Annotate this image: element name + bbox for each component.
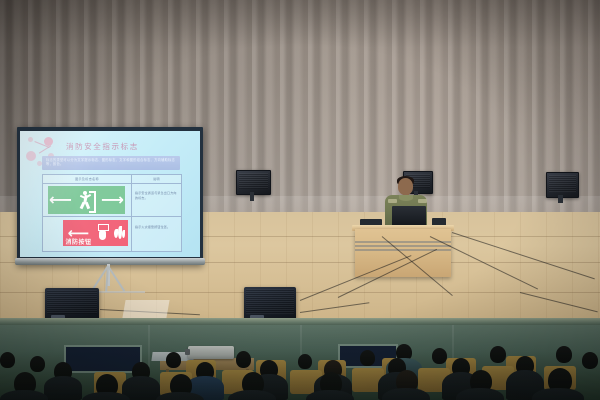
alarm-sign-label: 消防按钮 bbox=[63, 237, 94, 246]
presenter-shoulder-insignia bbox=[418, 199, 427, 203]
table-header-cell: 说明 bbox=[132, 177, 181, 181]
table-description-cell: 指示火灾报警按钮位置。 bbox=[135, 225, 179, 230]
alarm-left-arrow-cell: ⟵ 消防按钮 bbox=[63, 220, 94, 246]
fire-alarm-button-sign: ⟵ 消防按钮 bbox=[63, 220, 128, 246]
exit-left-arrow-cell: ⟵ bbox=[48, 186, 73, 214]
speaker-grille bbox=[47, 290, 97, 314]
slide-banner-text: 标志的类型可以分为文字提示标志、图形标志、文字和图形组合标志、方向辅助标志等，颜… bbox=[46, 158, 176, 167]
wall-joint bbox=[148, 325, 150, 367]
auditorium-photo: 消防安全指示标志 标志的类型可以分为文字提示标志、图形标志、文字和图形组合标志、… bbox=[0, 0, 600, 400]
speaker-stand bbox=[558, 195, 563, 203]
flame-icon bbox=[114, 225, 125, 241]
audience-shoulders bbox=[228, 390, 276, 400]
table-description-cell: 指示安全通道与紧急出口方向的标志。 bbox=[135, 191, 179, 200]
table-row-divider bbox=[43, 183, 181, 184]
speaker-grille bbox=[549, 175, 576, 192]
audience-shoulders bbox=[382, 388, 430, 400]
slide-banner: 标志的类型可以分为文字提示标志、图形标志、文字和图形组合标志、方向辅助标志等，颜… bbox=[42, 156, 180, 170]
audience-head bbox=[556, 346, 572, 363]
audience-head bbox=[432, 348, 447, 364]
projection-screen-surface: 消防安全指示标志 标志的类型可以分为文字提示标志、图形标志、文字和图形组合标志、… bbox=[20, 131, 200, 257]
wall-joint bbox=[452, 325, 454, 359]
running-man-exit-cell bbox=[73, 186, 100, 214]
slide-table: 图示及标志名称 说明 ⟵ bbox=[42, 174, 182, 252]
audience-head bbox=[360, 350, 375, 366]
pressing-hand-icon bbox=[96, 224, 109, 242]
audience-head bbox=[0, 352, 15, 368]
exit-right-arrow-cell: ⟶ bbox=[100, 186, 125, 214]
audience-head bbox=[236, 351, 251, 368]
table-header-cell: 图示及标志名称 bbox=[43, 177, 131, 181]
slide-title: 消防安全指示标志 bbox=[66, 141, 139, 152]
floor-monitor-left bbox=[45, 288, 99, 321]
dark-wall-panel bbox=[64, 345, 142, 373]
presenter-shoulder-insignia bbox=[388, 199, 397, 203]
audience-head bbox=[490, 346, 506, 363]
stage-paper bbox=[122, 300, 169, 318]
audience-head bbox=[298, 354, 312, 369]
audience-head bbox=[30, 356, 45, 372]
presenter-laptop bbox=[392, 206, 426, 226]
table-column-divider bbox=[131, 175, 132, 251]
speaker-grille bbox=[246, 289, 294, 314]
presenter-collar bbox=[399, 195, 413, 201]
audience-shoulders bbox=[0, 390, 48, 400]
floor-monitor-right bbox=[244, 287, 296, 321]
table-row-divider bbox=[43, 216, 181, 217]
audience-shoulders bbox=[306, 390, 354, 400]
exit-direction-sign: ⟵ ⟶ bbox=[48, 186, 125, 214]
running-man-icon bbox=[78, 190, 96, 210]
audience-shoulders bbox=[532, 388, 584, 400]
press-hand-cell bbox=[94, 220, 111, 246]
audience-shoulders bbox=[82, 392, 130, 400]
flame-cell bbox=[111, 220, 128, 246]
projector bbox=[188, 346, 234, 359]
screen-bottom-bar bbox=[15, 258, 205, 265]
audience-shoulders bbox=[456, 388, 504, 400]
speaker-grille bbox=[239, 173, 268, 189]
speaker-stand bbox=[250, 192, 254, 201]
audience-shoulders bbox=[44, 376, 82, 400]
projection-screen: 消防安全指示标志 标志的类型可以分为文字提示标志、图形标志、文字和图形组合标志、… bbox=[17, 127, 203, 265]
audience-shoulders bbox=[156, 392, 204, 400]
audience-head bbox=[582, 352, 598, 369]
audience-head bbox=[166, 352, 181, 368]
projector-lens bbox=[185, 349, 190, 355]
